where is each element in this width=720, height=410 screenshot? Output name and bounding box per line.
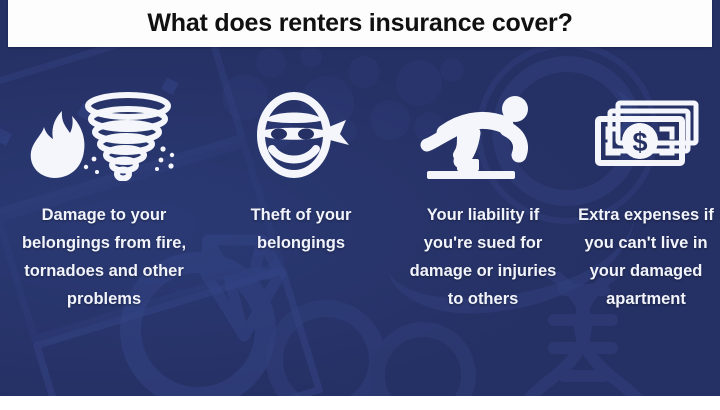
person-tripping-icon <box>419 89 547 181</box>
coverage-item-expenses: $ Extra expenses if you can't live in yo… <box>572 47 720 313</box>
renters-insurance-infographic: What does renters insurance cover? <box>0 0 720 410</box>
coverage-caption: Your liability if you're sued for damage… <box>399 201 567 313</box>
tripping-floor <box>427 171 515 179</box>
tripping-arm-left <box>427 131 453 145</box>
tornado-shape <box>88 95 168 179</box>
thief-eye-right <box>298 129 314 140</box>
fire-tornado-icon <box>24 89 184 181</box>
thief-smile <box>272 149 316 160</box>
coverage-columns: Damage to your belongings from fire, tor… <box>0 47 720 396</box>
dollar-sign: $ <box>632 127 647 157</box>
fire-tornado-glyph <box>24 89 184 181</box>
coverage-caption: Damage to your belongings from fire, tor… <box>3 201 205 313</box>
cash-money-glyph: $ <box>590 95 702 175</box>
burglar-thief-icon <box>246 89 356 181</box>
cash-money-icon: $ <box>590 89 702 181</box>
tripping-arm-right <box>459 135 463 155</box>
coverage-item-damage: Damage to your belongings from fire, tor… <box>0 47 208 313</box>
thief-mask <box>260 128 328 140</box>
burglar-thief-glyph <box>246 89 356 181</box>
title-bar: What does renters insurance cover? <box>8 0 712 47</box>
tripping-leg-back <box>507 129 521 155</box>
coverage-caption: Extra expenses if you can't live in your… <box>572 201 720 313</box>
thief-hat-brim <box>265 113 323 124</box>
coverage-caption: Theft of your belongings <box>211 201 391 257</box>
tripping-obstacle <box>457 159 479 171</box>
flame-shape <box>31 111 85 178</box>
bottom-white-strip <box>0 396 720 410</box>
page-title: What does renters insurance cover? <box>147 9 572 38</box>
coverage-item-theft: Theft of your belongings <box>208 47 394 257</box>
thief-eye-left <box>271 129 287 140</box>
person-tripping-glyph <box>419 89 547 181</box>
coverage-item-liability: Your liability if you're sued for damage… <box>394 47 572 313</box>
